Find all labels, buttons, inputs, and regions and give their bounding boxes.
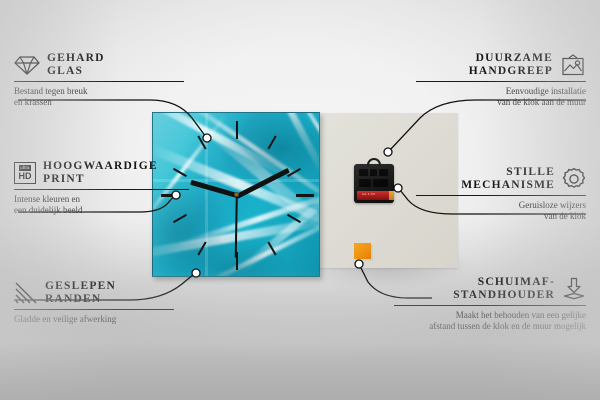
picture-hanger-icon [560,54,586,76]
diamond-icon [14,54,40,76]
feature-duurzame-handgreep[interactable]: DUURZAME HANDGREEP Eenvoudige installati… [416,52,586,108]
feature-desc: Bestand tegen breuk en krassen [14,86,184,108]
foam-spacer-pad [354,243,371,259]
feature-heading-row: GEHARD GLAS [14,52,184,78]
feature-desc: Intense kleuren en een duidelijk beeld [14,194,189,216]
feature-title: HOOGWAARDIGE PRINT [43,160,158,186]
ultra-hd-icon: ultra HD [14,162,36,184]
gear-icon [562,167,586,191]
tick-5 [267,242,276,256]
feature-desc: Maakt het behouden van een gelijke afsta… [394,310,586,332]
hd-badge-top: ultra [19,165,31,170]
second-hand [235,195,238,257]
hd-badge-bottom: HD [19,172,32,181]
battery: AA 1.5V [357,191,391,200]
divider [14,309,174,310]
tick-12 [236,121,238,139]
feature-heading-row: SCHUIMAF- STANDHOUDER [394,276,586,302]
feature-title: SCHUIMAF- STANDHOUDER [453,276,555,302]
feature-stille-mechanisme[interactable]: STILLE MECHANISME Geruisloze wijzers van… [416,166,586,222]
feature-desc: Geruisloze wijzers van de klok [416,200,586,222]
divider [14,81,184,82]
clock-mechanism: AA 1.5V [354,164,394,203]
foam-spacer-icon [562,277,586,301]
battery-terminal [389,191,394,200]
battery-label: AA 1.5V [362,192,375,196]
tick-1 [267,136,276,150]
feature-hoogwaardige-print[interactable]: ultra HD HOOGWAARDIGE PRINT Intense kleu… [14,160,189,216]
hour-hand [190,180,238,198]
feature-heading-row: GESLEPEN RANDEN [14,280,174,306]
feature-gehard-glas[interactable]: GEHARD GLAS Bestand tegen breuk en krass… [14,52,184,108]
feature-title: GESLEPEN RANDEN [45,280,116,306]
feature-title: STILLE MECHANISME [461,166,555,192]
tick-4 [287,214,301,223]
tick-7 [197,242,206,256]
feature-desc: Eenvoudige installatie van de klok aan d… [416,86,586,108]
divider [416,195,586,196]
divider [14,189,189,190]
feature-heading-row: ultra HD HOOGWAARDIGE PRINT [14,160,189,186]
mechanism-hook-icon [367,158,381,166]
product-feature-infographic: AA 1.5V [0,0,600,400]
feature-geslepen-randen[interactable]: GESLEPEN RANDEN Gladde en veilige afwerk… [14,280,174,325]
feature-title: DUURZAME HANDGREEP [469,52,553,78]
feature-heading-row: DUURZAME HANDGREEP [416,52,586,78]
minute-hand [236,167,290,198]
feature-title: GEHARD GLAS [47,52,105,78]
feature-heading-row: STILLE MECHANISME [416,166,586,192]
tick-3 [296,194,314,197]
tick-11 [197,136,206,150]
clock-hub [234,192,239,197]
divider [394,305,586,306]
feature-desc: Gladde en veilige afwerking [14,314,174,325]
beveled-edges-icon [14,281,38,305]
divider [416,81,586,82]
feature-schuimafstandhouder[interactable]: SCHUIMAF- STANDHOUDER Maakt het behouden… [394,276,586,332]
